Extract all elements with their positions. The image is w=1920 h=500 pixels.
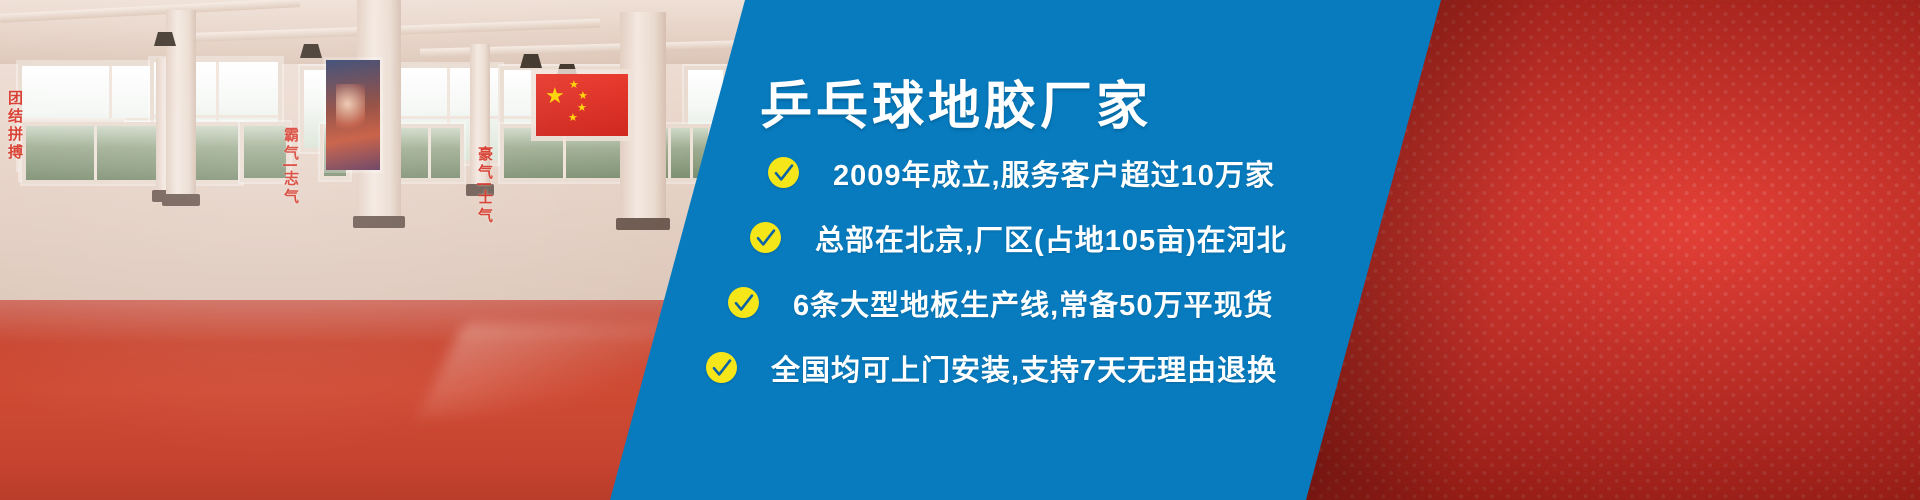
check-circle-icon — [728, 287, 759, 318]
check-circle-icon — [750, 222, 781, 253]
promo-banner: 团结拼搏 霸气|志气 豪气|士气 ★ ★ ★ ★ ★ 乒乓球地胶厂家 — [0, 0, 1920, 500]
list-item-label: 2009年成立,服务客户超过10万家 — [833, 152, 1275, 194]
selling-points-list: 2009年成立,服务客户超过10万家 总部在北京,厂区(占地105亩)在河北 6… — [0, 140, 1920, 400]
list-item-label: 6条大型地板生产线,常备50万平现货 — [793, 282, 1273, 324]
list-item-label: 全国均可上门安装,支持7天无理由退换 — [771, 347, 1277, 389]
list-item: 总部在北京,厂区(占地105亩)在河北 — [0, 205, 1920, 270]
check-circle-icon — [768, 157, 799, 188]
panel-content: 乒乓球地胶厂家 2009年成立,服务客户超过10万家 总部在北京,厂区(占地10… — [0, 0, 1920, 500]
list-item: 2009年成立,服务客户超过10万家 — [0, 140, 1920, 205]
list-item: 6条大型地板生产线,常备50万平现货 — [0, 270, 1920, 335]
list-item: 全国均可上门安装,支持7天无理由退换 — [0, 335, 1920, 400]
list-item-label: 总部在北京,厂区(占地105亩)在河北 — [815, 217, 1287, 259]
page-title: 乒乓球地胶厂家 — [0, 64, 1920, 139]
check-circle-icon — [706, 352, 737, 383]
